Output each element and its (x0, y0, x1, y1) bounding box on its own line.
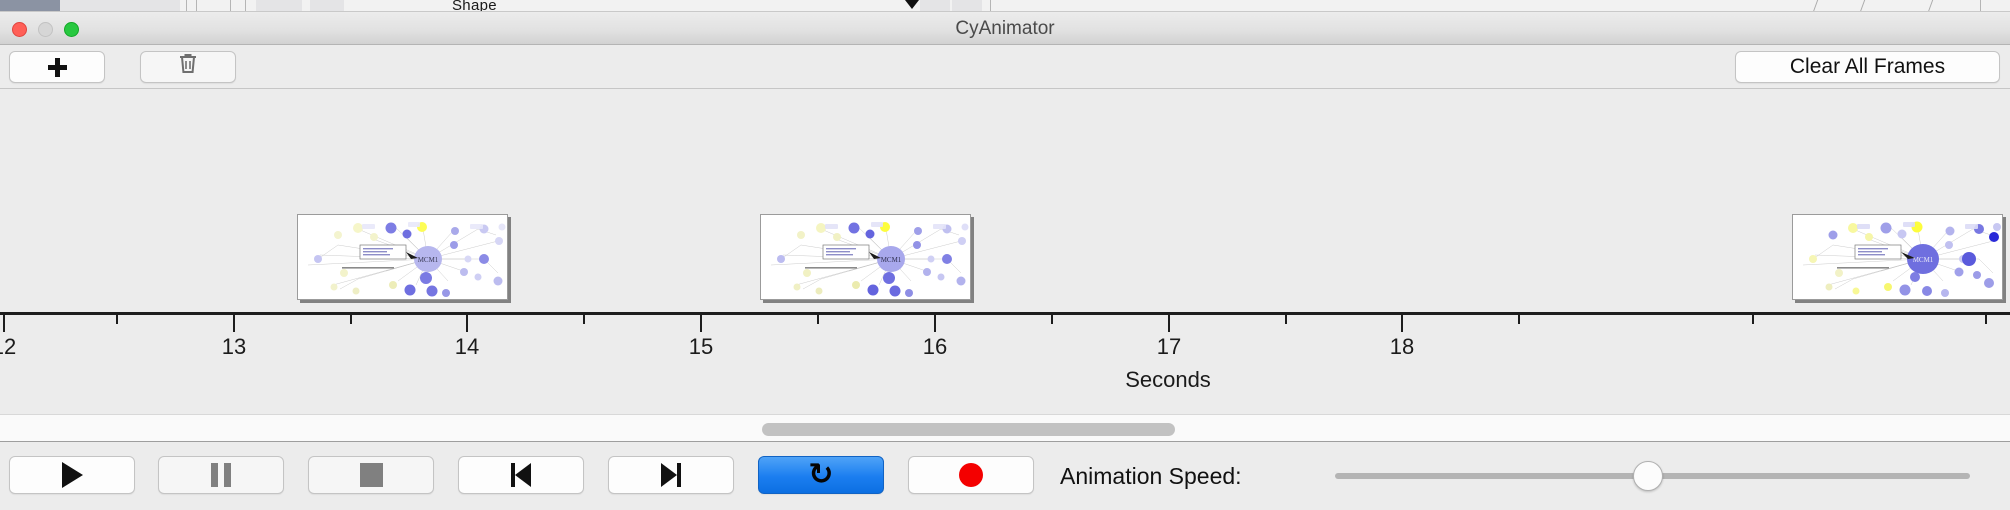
animation-speed-slider[interactable] (1335, 473, 1970, 479)
animation-speed-label: Animation Speed: (1060, 463, 1242, 490)
clear-all-frames-button[interactable]: Clear All Frames (1735, 51, 2000, 83)
timeline-tick-major (700, 315, 702, 332)
background-triangle-icon (905, 0, 919, 9)
stop-button[interactable] (308, 456, 434, 494)
play-icon (62, 462, 83, 488)
skip-next-button[interactable] (608, 456, 734, 494)
loop-icon: ↻ (808, 460, 833, 490)
timeline-tick-major (1168, 315, 1170, 332)
timeline-tick-major (466, 315, 468, 332)
scrollbar-thumb[interactable] (762, 423, 1175, 436)
timeline-axis (0, 312, 2010, 315)
stop-icon (360, 463, 383, 487)
cyanimator-window: Shape CyAnimator (0, 0, 2010, 510)
timeline-tick-label: 15 (689, 334, 713, 360)
timeline-tick-minor (583, 315, 585, 324)
timeline-tick-major (934, 315, 936, 332)
svg-text:MCM1: MCM1 (881, 256, 902, 264)
timeline-tick-minor (116, 315, 118, 324)
frame-toolbar: Clear All Frames (0, 45, 2010, 89)
timeline-tick-minor (350, 315, 352, 324)
pause-button[interactable] (158, 456, 284, 494)
timeline-tick-major (3, 315, 5, 332)
background-app-label: Shape (452, 0, 497, 12)
timeline-tick-major (1401, 315, 1403, 332)
loop-button[interactable]: ↻ (758, 456, 884, 494)
pause-icon (211, 463, 231, 487)
timeline-tick-label: 13 (222, 334, 246, 360)
animation-speed-slider-thumb[interactable] (1633, 461, 1663, 491)
timeline-tick-minor (817, 315, 819, 324)
timeline-panel[interactable]: MCM1 (0, 89, 2010, 414)
axis-title: Seconds (0, 367, 2010, 393)
title-bar[interactable]: CyAnimator (0, 12, 2010, 45)
skip-previous-button[interactable] (458, 456, 584, 494)
timeline-tick-major (233, 315, 235, 332)
timeline-tick-label: 16 (923, 334, 947, 360)
timeline-tick-label: 12 (0, 334, 16, 360)
frame-thumbnail-1[interactable]: MCM1 (297, 214, 508, 300)
timeline-tick-minor (1985, 315, 1987, 324)
trash-icon (177, 52, 199, 82)
timeline-tick-minor (1752, 315, 1754, 324)
skip-previous-icon (511, 463, 531, 487)
frame-thumbnail-2[interactable]: MCM1 (760, 214, 971, 300)
clear-all-frames-label: Clear All Frames (1790, 55, 1945, 79)
timeline-tick-label: 18 (1390, 334, 1414, 360)
add-frame-button[interactable] (9, 51, 105, 83)
record-button[interactable] (908, 456, 1034, 494)
svg-text:MCM1: MCM1 (418, 256, 439, 264)
delete-frame-button[interactable] (140, 51, 236, 83)
play-button[interactable] (9, 456, 135, 494)
plus-icon (48, 58, 67, 77)
timeline-tick-label: 17 (1157, 334, 1181, 360)
timeline-tick-label: 14 (455, 334, 479, 360)
background-app-strip: Shape (0, 0, 2010, 12)
svg-text:MCM1: MCM1 (1913, 256, 1934, 264)
timeline-horizontal-scrollbar[interactable] (0, 414, 2010, 442)
frame-thumbnail-3[interactable]: MCM1 (1792, 214, 2003, 300)
timeline-tick-minor (1518, 315, 1520, 324)
skip-next-icon (661, 463, 681, 487)
window-title: CyAnimator (0, 12, 2010, 45)
timeline-tick-minor (1285, 315, 1287, 324)
playback-control-bar: ↻ Animation Speed: (0, 442, 2010, 510)
timeline-tick-minor (1051, 315, 1053, 324)
record-icon (959, 463, 983, 487)
